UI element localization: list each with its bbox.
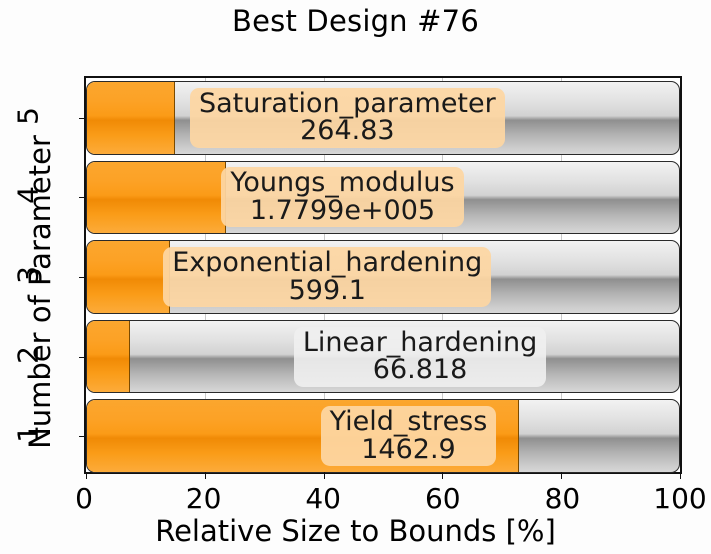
bar-row[interactable]: Yield_stress 1462.9 xyxy=(86,396,680,476)
xtick-label-80: 80 xyxy=(545,482,581,515)
bar-fill xyxy=(87,321,130,393)
ytick-mark-3 xyxy=(79,277,86,278)
figure-canvas: Best Design #76 Saturation_parameter 264… xyxy=(0,0,711,554)
xtick-mark-0 xyxy=(86,472,87,479)
bar-row[interactable]: Saturation_parameter 264.83 xyxy=(86,78,680,158)
bar-fill xyxy=(87,241,170,313)
bar-row[interactable]: Exponential_hardening 599.1 xyxy=(86,237,680,317)
chart-title: Best Design #76 xyxy=(0,4,711,38)
xtick-label-100: 100 xyxy=(653,482,706,515)
xtick-mark-80 xyxy=(561,472,562,479)
bar-track xyxy=(86,161,680,235)
bar-track xyxy=(86,240,680,314)
xtick-mark-20 xyxy=(205,472,206,479)
xtick-mark-40 xyxy=(324,472,325,479)
bar-row[interactable]: Youngs_modulus 1.7799e+005 xyxy=(86,158,680,238)
x-axis-label: Relative Size to Bounds [%] xyxy=(0,514,711,548)
ytick-mark-5 xyxy=(79,118,86,119)
y-axis-label: Number of Parameter xyxy=(23,92,57,492)
xtick-mark-60 xyxy=(442,472,443,479)
xtick-label-20: 20 xyxy=(186,482,222,515)
xtick-label-60: 60 xyxy=(425,482,461,515)
bar-fill xyxy=(87,400,519,472)
bar-track xyxy=(86,81,680,155)
bar-track xyxy=(86,399,680,473)
ytick-mark-2 xyxy=(79,357,86,358)
xtick-label-40: 40 xyxy=(305,482,341,515)
bar-fill xyxy=(87,82,175,154)
bar-fill xyxy=(87,162,226,234)
ytick-mark-4 xyxy=(79,197,86,198)
bar-row[interactable]: Linear_hardening 66.818 xyxy=(86,317,680,397)
bar-track xyxy=(86,320,680,394)
xtick-mark-100 xyxy=(680,472,681,479)
xtick-label-0: 0 xyxy=(75,482,93,515)
ytick-mark-1 xyxy=(79,436,86,437)
plot-area: Saturation_parameter 264.83 Youngs_modul… xyxy=(84,76,682,474)
